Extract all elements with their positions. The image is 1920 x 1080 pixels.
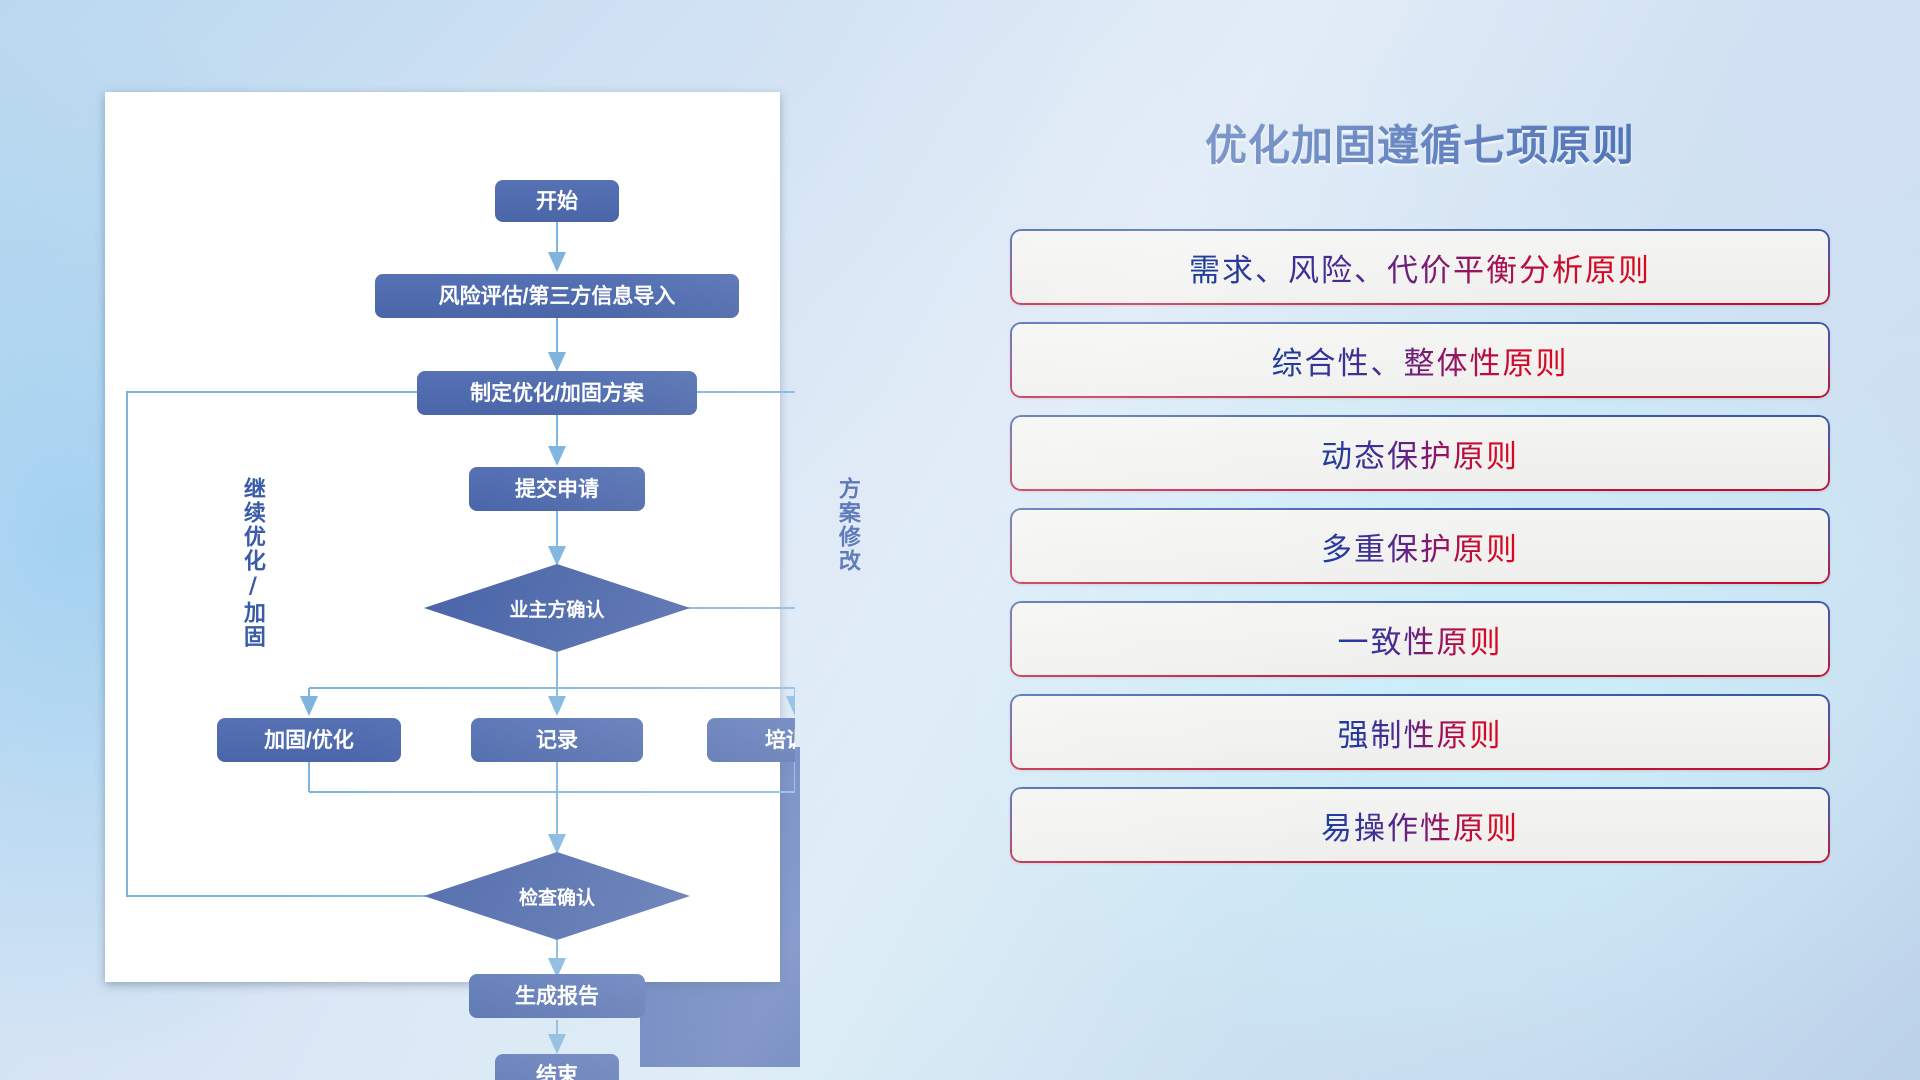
principle-card[interactable]: 需求、风险、代价平衡分析原则 <box>1010 229 1830 305</box>
flow-node-label: 风险评估/第三方信息导入 <box>439 284 676 308</box>
flowchart-svg: 开始 风险评估/第三方信息导入 制定优化/加固方案 提交申请 业主方确认 加固/… <box>105 92 795 982</box>
page-title: 优化加固遵循七项原则 <box>1010 112 1830 173</box>
principle-card[interactable]: 多重保护原则 <box>1010 508 1830 584</box>
flow-node-label: 提交申请 <box>515 477 599 501</box>
flow-node-plan: 制定优化/加固方案 <box>417 371 697 415</box>
flow-node-report: 生成报告 <box>469 974 645 1018</box>
principle-card-label: 易操作性原则 <box>1321 803 1519 848</box>
principles-panel: 优化加固遵循七项原则 需求、风险、代价平衡分析原则 综合性、整体性原则 动态保护… <box>1010 90 1830 1020</box>
flow-node-label: 开始 <box>536 189 578 213</box>
principle-card-label: 多重保护原则 <box>1321 524 1519 569</box>
flow-loop-label-left: 继续优化/加固 <box>241 477 264 649</box>
slide-canvas: 开始 风险评估/第三方信息导入 制定优化/加固方案 提交申请 业主方确认 加固/… <box>0 0 1920 1080</box>
flow-node-reinforce: 加固/优化 <box>217 718 401 762</box>
principle-card[interactable]: 强制性原则 <box>1010 694 1830 770</box>
flow-node-label: 制定优化/加固方案 <box>470 381 645 405</box>
principle-card-label: 需求、风险、代价平衡分析原则 <box>1189 245 1651 290</box>
principle-card-label: 强制性原则 <box>1338 710 1503 755</box>
flowchart-region: 开始 风险评估/第三方信息导入 制定优化/加固方案 提交申请 业主方确认 加固/… <box>105 92 795 972</box>
principle-card[interactable]: 易操作性原则 <box>1010 787 1830 863</box>
flow-node-start: 开始 <box>495 180 619 222</box>
principles-card-list: 需求、风险、代价平衡分析原则 综合性、整体性原则 动态保护原则 多重保护原则 一… <box>1010 229 1830 863</box>
principle-card-label: 一致性原则 <box>1338 617 1503 662</box>
flow-node-label: 加固/优化 <box>263 728 354 752</box>
flow-node-check-confirm: 检查确认 <box>424 852 690 940</box>
flow-node-label: 生成报告 <box>515 984 599 1008</box>
flow-node-owner-confirm: 业主方确认 <box>424 564 690 652</box>
flow-node-training: 培训 <box>707 718 795 762</box>
flow-node-label: 业主方确认 <box>509 598 604 621</box>
principle-card[interactable]: 动态保护原则 <box>1010 415 1830 491</box>
principle-card[interactable]: 一致性原则 <box>1010 601 1830 677</box>
flow-node-risk: 风险评估/第三方信息导入 <box>375 274 739 318</box>
flow-node-label: 培训 <box>765 728 795 752</box>
flow-node-label: 检查确认 <box>519 886 595 909</box>
flow-node-label: 记录 <box>536 729 578 752</box>
flow-node-end: 结束 <box>495 1054 619 1080</box>
principle-card-label: 动态保护原则 <box>1321 431 1519 476</box>
principle-card[interactable]: 综合性、整体性原则 <box>1010 322 1830 398</box>
flow-loop-label-right: 方案修改 <box>836 477 859 573</box>
flowchart-svg-tail: 生成报告 结束 <box>105 974 795 1080</box>
principle-card-label: 综合性、整体性原则 <box>1272 338 1569 383</box>
flow-node-record: 记录 <box>471 718 643 762</box>
flow-node-label: 结束 <box>536 1063 579 1080</box>
flow-node-submit: 提交申请 <box>469 467 645 511</box>
